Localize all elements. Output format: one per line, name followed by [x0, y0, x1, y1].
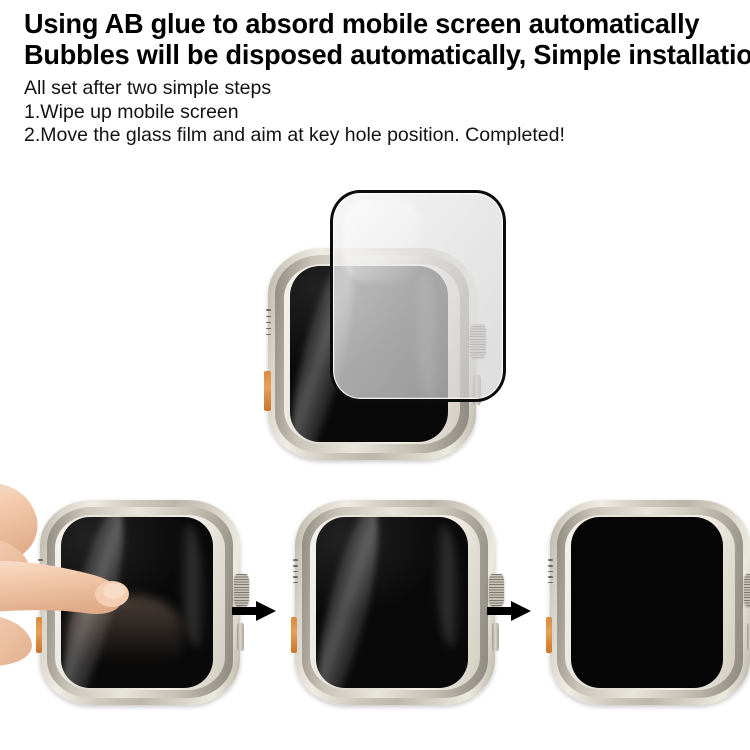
- speaker-grille-icon: [293, 559, 298, 583]
- headline-line-1: Using AB glue to absord mobile screen au…: [24, 8, 729, 39]
- screen-highlight: [316, 517, 390, 687]
- speaker-grille-icon: [38, 559, 43, 583]
- arrow-right-icon: [232, 600, 276, 622]
- speaker-grille-icon: [266, 309, 271, 335]
- watch-screen: [61, 517, 213, 687]
- instruction-step-1: 1.Wipe up mobile screen: [24, 101, 724, 125]
- finger-reflection: [64, 596, 183, 681]
- instruction-step-2: 2.Move the glass film and aim at key hol…: [24, 124, 724, 148]
- arrow-right-icon: [487, 600, 531, 622]
- headline-line-2: Bubbles will be disposed automatically, …: [24, 39, 729, 70]
- step-done-watch: [550, 500, 750, 705]
- step-apply-watch: [295, 500, 495, 705]
- digital-crown-icon: [744, 574, 750, 606]
- action-button-icon: [36, 617, 42, 653]
- step-wipe-watch: [40, 500, 240, 705]
- watch-screen: [316, 517, 468, 687]
- speaker-grille-icon: [548, 559, 553, 583]
- product-infographic: Using AB glue to absord mobile screen au…: [0, 0, 750, 750]
- headline-block: Using AB glue to absord mobile screen au…: [24, 8, 740, 70]
- tempered-glass-protector: [330, 190, 506, 402]
- side-button-icon: [492, 623, 499, 651]
- instruction-intro: All set after two simple steps: [24, 77, 724, 101]
- action-button-icon: [264, 371, 271, 411]
- protector-glare: [343, 199, 421, 281]
- screen-highlight-secondary: [432, 524, 463, 648]
- instruction-block: All set after two simple steps 1.Wipe up…: [24, 77, 724, 148]
- action-button-icon: [291, 617, 297, 653]
- side-button-icon: [237, 623, 244, 651]
- watch-screen: [571, 517, 723, 687]
- action-button-icon: [546, 617, 552, 653]
